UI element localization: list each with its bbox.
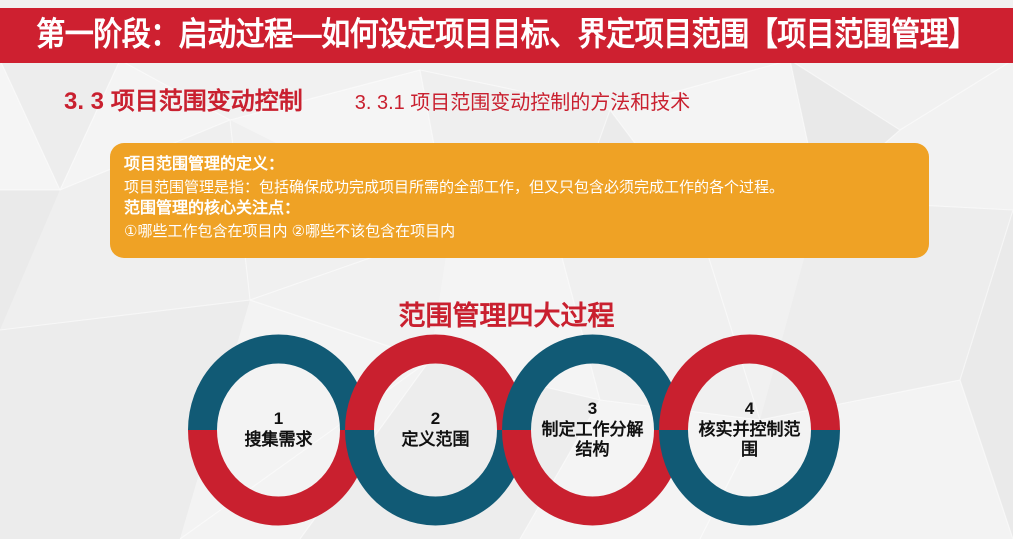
ring-graphic-3 xyxy=(502,334,683,526)
definition-line-body: 项目范围管理是指：包括确保成功完成项目所需的全部工作，但又只包含必须完成工作的各… xyxy=(124,177,929,198)
slide-canvas: 第一阶段：启动过程—如何设定项目目标、界定项目范围【项目范围管理】 3. 3 项… xyxy=(0,0,1013,539)
section-heading-main: 3. 3 项目范围变动控制 xyxy=(64,88,303,117)
process-ring-3[interactable]: 3 制定工作分解结构 xyxy=(502,334,683,526)
ring-graphic-4 xyxy=(659,334,840,526)
process-ring-1[interactable]: 1 搜集需求 xyxy=(188,334,369,526)
ring-graphic-2 xyxy=(345,334,526,526)
process-ring-2[interactable]: 2 定义范围 xyxy=(345,334,526,526)
page-title: 第一阶段：启动过程—如何设定项目目标、界定项目范围【项目范围管理】 xyxy=(36,19,977,51)
ring-graphic-1 xyxy=(188,334,369,526)
slide-title-banner: 第一阶段：启动过程—如何设定项目目标、界定项目范围【项目范围管理】 xyxy=(0,8,1013,63)
definition-line-focus: 范围管理的核心关注点： xyxy=(124,198,929,221)
section-heading-row: 3. 3 项目范围变动控制 3. 3.1 项目范围变动控制的方法和技术 xyxy=(64,88,690,117)
process-rings-row: 1 搜集需求 2 定义范围 3 制定工作分解结构 xyxy=(0,334,1013,534)
definition-line-title: 项目范围管理的定义： xyxy=(124,154,929,177)
definition-line-points: ①哪些工作包含在项目内 ②哪些不该包含在项目内 xyxy=(124,221,929,242)
definition-callout-box: 项目范围管理的定义： 项目范围管理是指：包括确保成功完成项目所需的全部工作，但又… xyxy=(110,143,929,258)
process-ring-4[interactable]: 4 核实并控制范围 xyxy=(659,334,840,526)
section-heading-sub: 3. 3.1 项目范围变动控制的方法和技术 xyxy=(355,91,691,115)
process-diagram-title: 范围管理四大过程 xyxy=(0,294,1013,333)
